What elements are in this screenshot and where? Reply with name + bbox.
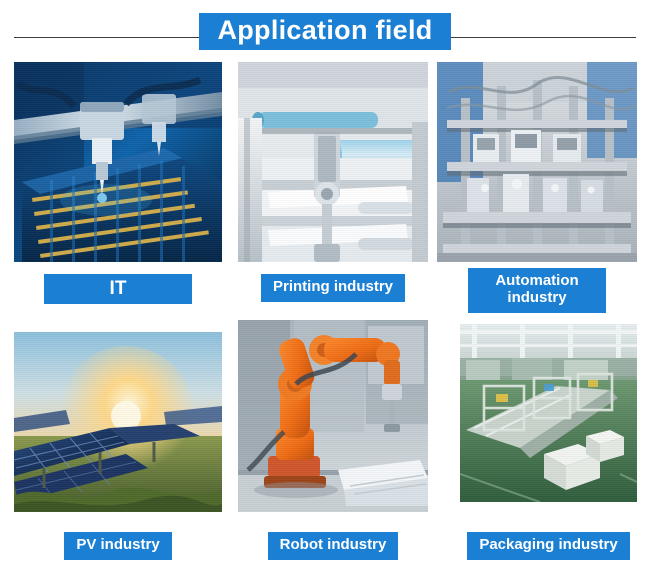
card-automation[interactable]: Automation industry — [437, 62, 637, 262]
card-it-image — [14, 62, 222, 262]
page-title: Application field — [199, 13, 450, 50]
it-illustration — [14, 62, 222, 262]
card-it-caption: IT — [44, 274, 192, 304]
card-packaging-caption: Packaging industry — [467, 532, 629, 560]
card-robot-caption: Robot industry — [268, 532, 399, 560]
automation-illustration — [437, 62, 637, 262]
card-printing-caption: Printing industry — [261, 274, 405, 302]
card-grid: IT — [0, 62, 650, 582]
card-row-2: PV industry — [0, 320, 650, 582]
card-pv-image — [14, 332, 222, 512]
pv-illustration — [14, 332, 222, 512]
header-rule-left — [14, 37, 210, 38]
card-it[interactable]: IT — [14, 62, 222, 262]
packaging-illustration — [460, 324, 637, 502]
card-robot[interactable]: Robot industry — [238, 320, 428, 512]
card-pv-caption-wrap: PV industry — [14, 532, 222, 560]
printing-illustration — [238, 62, 428, 262]
card-robot-image — [238, 320, 428, 512]
card-printing-image — [238, 62, 428, 262]
card-it-caption-wrap: IT — [14, 274, 222, 304]
header: Application field — [0, 0, 650, 62]
card-packaging-image — [460, 324, 637, 502]
card-packaging[interactable]: Packaging industry — [460, 320, 637, 502]
card-automation-caption: Automation industry — [468, 268, 606, 313]
header-rule-right — [440, 37, 636, 38]
application-field-infographic: Application field — [0, 0, 650, 582]
card-printing-caption-wrap: Printing industry — [238, 274, 428, 302]
card-packaging-caption-wrap: Packaging industry — [460, 532, 637, 560]
card-automation-image — [437, 62, 637, 262]
card-pv-caption: PV industry — [64, 532, 171, 560]
card-printing[interactable]: Printing industry — [238, 62, 428, 262]
card-row-1: IT — [0, 62, 650, 314]
card-automation-caption-wrap: Automation industry — [437, 268, 637, 313]
card-robot-caption-wrap: Robot industry — [238, 532, 428, 560]
card-pv[interactable]: PV industry — [14, 320, 222, 512]
robot-illustration — [238, 320, 428, 512]
